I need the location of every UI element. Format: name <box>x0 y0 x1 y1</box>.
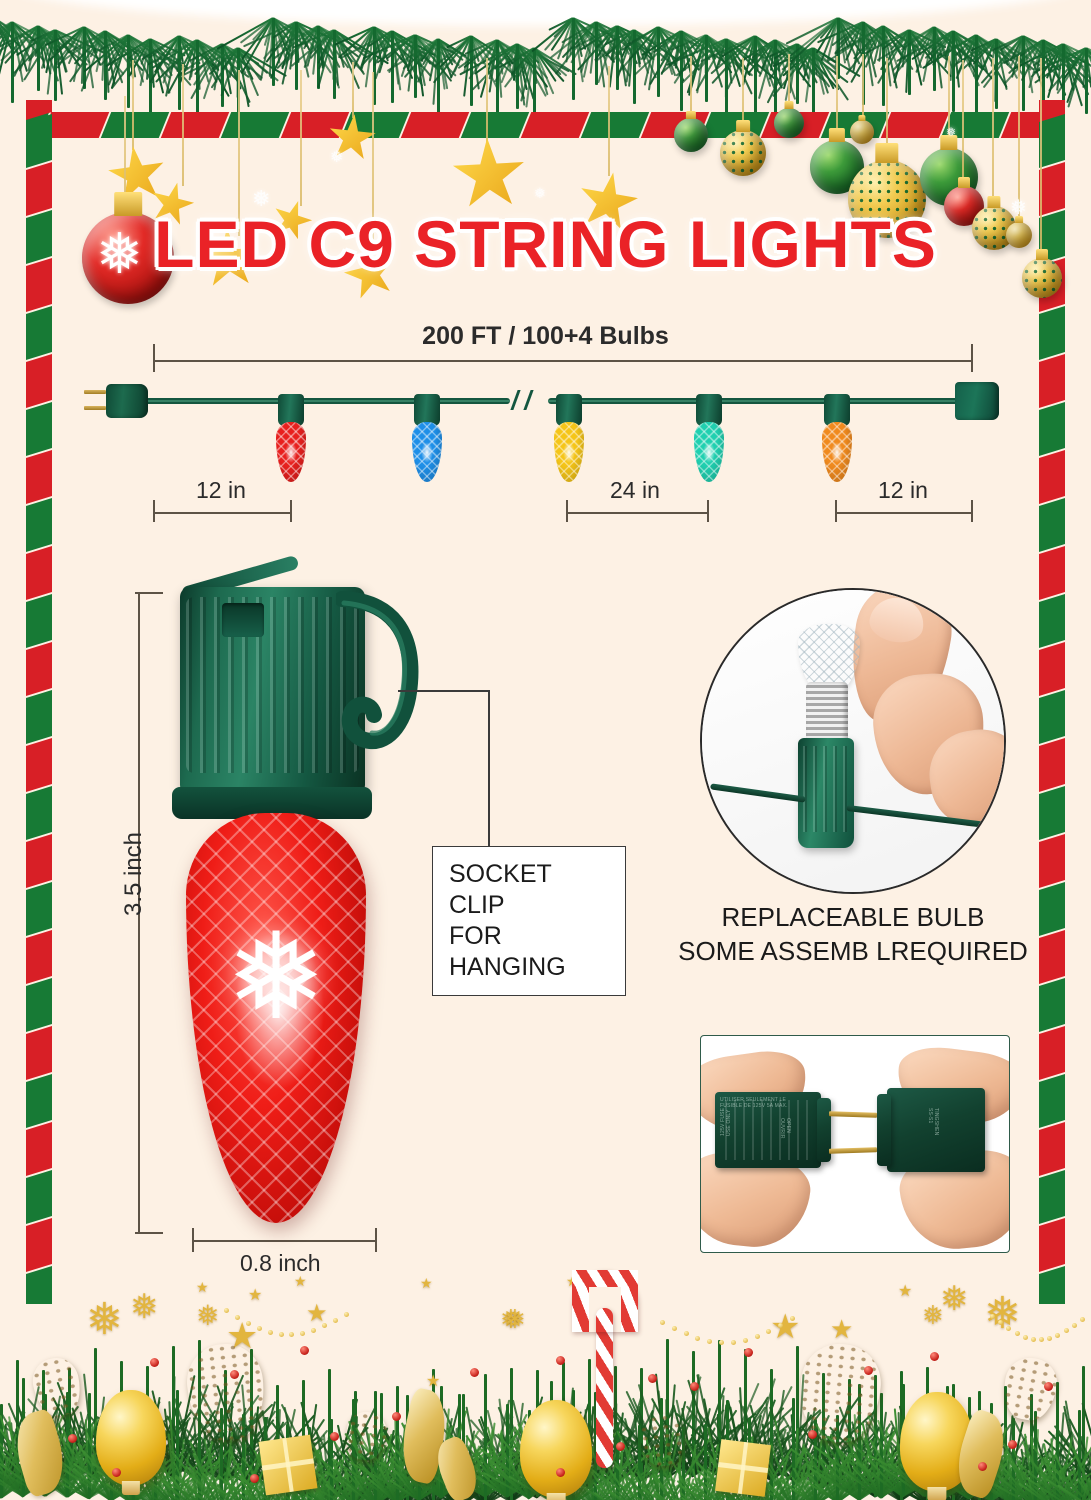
stripe-segment <box>26 689 52 745</box>
string-bulb-yellow <box>554 422 584 482</box>
red-berry <box>556 1356 565 1365</box>
gold-bead <box>311 1328 316 1333</box>
dim-tick-24-a <box>566 500 568 522</box>
callout-leader-horizontal <box>398 690 490 692</box>
gold-gift-box <box>258 1435 317 1496</box>
string-diagram: 200 FT / 100+4 Bulbs 12 in 24 in 12 <box>0 322 1091 532</box>
photo-prong-bottom <box>829 1147 877 1154</box>
socket-clip-callout: SOCKET CLIP FOR HANGING <box>432 846 626 996</box>
bulb-shine <box>285 442 297 462</box>
gold-bead <box>743 1338 748 1343</box>
gold-bauble <box>96 1390 166 1486</box>
ornament-thread <box>962 60 964 186</box>
bulb-height-label: 3.5 inch <box>120 832 148 916</box>
female-connector <box>955 382 999 420</box>
wire-break-slash-2 <box>523 390 533 410</box>
gold-bauble <box>520 1400 592 1498</box>
ornament-bauble <box>720 130 766 176</box>
female-plug-lip <box>877 1094 891 1166</box>
dim-label-24: 24 in <box>610 477 660 504</box>
bottom-garland: ❅❅❅★★★★❅★❅★❅❅❅★★★★★ <box>0 1262 1091 1500</box>
photo-socket-ribs <box>803 746 849 832</box>
male-plug <box>106 384 148 418</box>
stripe-segment <box>459 112 531 138</box>
ornament-cap <box>736 120 750 132</box>
pine-stem <box>952 31 955 112</box>
gold-snowflake: ❅ <box>86 1298 123 1342</box>
pine-stem <box>295 22 298 90</box>
ornament-cap <box>785 101 794 109</box>
ornament-bauble <box>674 118 708 152</box>
dim-tick-12-right-a <box>835 500 837 522</box>
ornament-cap <box>875 143 898 163</box>
candy-cane-hook <box>572 1270 638 1332</box>
callout-leader-vertical <box>488 690 490 846</box>
gold-bead <box>990 1314 995 1319</box>
red-berry <box>690 1382 699 1391</box>
stripe-segment <box>1039 113 1065 169</box>
bulb-shine <box>421 442 433 462</box>
stripe-segment <box>1039 833 1065 889</box>
bulb-width-label: 0.8 inch <box>240 1250 321 1277</box>
gold-bead <box>1055 1333 1060 1338</box>
candy-cane-stick <box>596 1308 613 1468</box>
stripe-segment <box>1039 689 1065 745</box>
ornament-bauble <box>850 120 874 144</box>
dim-label-12-right: 12 in <box>878 477 928 504</box>
ornament-thread <box>690 56 692 118</box>
gold-bead <box>684 1331 689 1336</box>
red-berry <box>300 1346 309 1355</box>
gold-bead <box>1072 1323 1077 1328</box>
pine-stem <box>657 27 660 97</box>
ornament-cap <box>858 115 865 121</box>
stripe-segment <box>1039 545 1065 601</box>
replaceable-bulb-photo <box>700 588 1006 894</box>
photo-socket <box>798 738 854 848</box>
ornament-cap <box>958 177 970 187</box>
plug-micro-text-open: OPEN OUVRIR <box>779 1118 792 1139</box>
ornament-thread <box>182 64 184 186</box>
gold-bead <box>755 1334 760 1339</box>
snow-sparkle: ❅ <box>946 126 956 138</box>
pine-stem <box>754 36 757 118</box>
red-berry <box>68 1434 77 1443</box>
ornament-thread <box>486 58 488 142</box>
bulb-shine <box>563 442 575 462</box>
garland-foliage: ❅❅❅★★★★❅★❅★❅❅❅★★★★★ <box>0 1262 1091 1500</box>
bulb-shine <box>703 442 715 462</box>
stripe-segment <box>519 112 591 138</box>
gold-star-accent: ★ <box>830 1316 853 1342</box>
red-berry <box>150 1358 159 1367</box>
dim-tick-12-left-a <box>153 500 155 522</box>
red-berry <box>470 1368 479 1377</box>
ornament-thread <box>352 62 354 118</box>
gold-bead <box>333 1318 338 1323</box>
stripe-segment <box>1039 977 1065 1033</box>
stripe-segment <box>879 112 951 138</box>
plug-connector-photo: UTILISER SEULEMENT LE FUSIBLE DE 125V 5A… <box>700 1035 1010 1253</box>
gold-bead <box>322 1323 327 1328</box>
gold-bead <box>289 1332 294 1337</box>
gold-bead <box>300 1331 305 1336</box>
replaceable-bulb-caption: REPLACEABLE BULB SOME ASSEMB LREQUIRED <box>640 900 1066 969</box>
gold-bead <box>1080 1317 1085 1322</box>
gold-bead <box>1023 1335 1028 1340</box>
wire-break-slash-1 <box>510 390 520 410</box>
stripe-segment <box>1039 785 1065 841</box>
gold-bead <box>257 1326 262 1331</box>
stripe-segment <box>399 112 471 138</box>
stripe-segment <box>99 112 171 138</box>
ornament-thread <box>788 54 790 108</box>
dim-line-24 <box>566 512 708 514</box>
socket-tab <box>222 603 264 637</box>
gold-snowflake: ❅ <box>504 1306 526 1332</box>
red-berry <box>808 1430 817 1439</box>
gold-star-accent: ★ <box>898 1284 912 1300</box>
string-bulb-red <box>276 422 306 482</box>
gold-star-accent: ★ <box>770 1310 800 1344</box>
stripe-segment <box>579 112 651 138</box>
red-berry <box>864 1366 873 1375</box>
ornament-thread <box>132 60 134 150</box>
gold-bead <box>660 1320 665 1325</box>
plug-prong-top <box>84 390 106 394</box>
ornament-thread <box>862 54 864 120</box>
socket-ribs <box>186 597 359 773</box>
overall-dim-tick-right <box>971 344 973 372</box>
red-berry <box>556 1468 565 1477</box>
stripe-segment <box>159 112 231 138</box>
wire-left-highlight <box>140 400 510 402</box>
gold-star-accent: ★ <box>248 1288 262 1304</box>
stripe-segment <box>1039 593 1065 649</box>
bulb-screw-base <box>806 682 848 744</box>
red-berry <box>250 1474 259 1483</box>
gold-gift-box <box>715 1439 771 1497</box>
snow-sparkle: ❅ <box>534 186 546 200</box>
red-berry <box>978 1462 987 1471</box>
dim-label-12-left: 12 in <box>196 477 246 504</box>
gold-bead <box>279 1332 284 1337</box>
string-bulb-orange <box>822 422 852 482</box>
stripe-segment <box>26 1169 52 1225</box>
ornament-cap <box>829 128 845 142</box>
ornament-cap <box>686 111 696 120</box>
gold-snowflake: ❅ <box>196 1302 219 1330</box>
stripe-segment <box>1039 1169 1065 1225</box>
pine-stem <box>127 35 130 108</box>
dim-tick-12-right-b <box>971 500 973 522</box>
gold-bead <box>1047 1336 1052 1341</box>
red-berry <box>744 1348 753 1357</box>
gold-snowflake: ❅ <box>130 1290 159 1324</box>
pine-stem <box>437 39 440 122</box>
stripe-segment <box>1039 641 1065 697</box>
photo-prong-top <box>829 1111 877 1118</box>
gold-bead <box>1039 1337 1044 1342</box>
stripe-segment <box>26 929 52 985</box>
bulb-snowflake-glint: ❅ <box>226 917 327 1037</box>
ornament-bauble <box>774 108 804 138</box>
stripe-segment <box>26 113 52 169</box>
snow-cap <box>0 0 1091 26</box>
stripe-segment <box>26 593 52 649</box>
stripe-segment <box>219 112 291 138</box>
stripe-segment <box>1039 1121 1065 1177</box>
gold-star-accent: ★ <box>420 1276 433 1290</box>
gold-star <box>450 136 528 214</box>
gold-bead <box>719 1340 724 1345</box>
ornament-thread <box>300 70 302 206</box>
bulb-detail-illustration: ❅ <box>150 565 430 1265</box>
stripe-segment <box>26 1025 52 1081</box>
red-berry <box>330 1432 339 1441</box>
red-berry <box>930 1352 939 1361</box>
dim-line-12-right <box>835 512 973 514</box>
pine-stem <box>11 22 14 103</box>
infographic-page: ❅❅❅❅❅❅ LED C9 STRING LIGHTS 200 FT / 100… <box>0 0 1091 1500</box>
stripe-segment <box>26 545 52 601</box>
stripe-segment <box>26 641 52 697</box>
plug-micro-text-fuse: 125V FUSE USE ONLY <box>720 1108 733 1136</box>
stripe-segment <box>1039 1025 1065 1081</box>
bulb-glass-red: ❅ <box>186 813 366 1223</box>
gold-bead <box>246 1321 251 1326</box>
pine-stem <box>333 30 336 99</box>
overall-dim-line <box>153 360 973 362</box>
gold-bead <box>235 1315 240 1320</box>
gold-bead <box>672 1326 677 1331</box>
gold-star-accent: ★ <box>426 1374 440 1390</box>
bulb-shine <box>831 442 843 462</box>
stripe-segment <box>26 881 52 937</box>
red-berry <box>616 1442 625 1451</box>
red-berry <box>112 1468 121 1477</box>
gold-bead <box>695 1336 700 1341</box>
gold-bead <box>731 1340 736 1345</box>
red-berry <box>1044 1382 1053 1391</box>
gold-bead <box>268 1330 273 1335</box>
stripe-segment <box>26 785 52 841</box>
male-plug-body: UTILISER SEULEMENT LE FUSIBLE DE 125V 5A… <box>715 1092 821 1168</box>
overall-dim-tick-left <box>153 344 155 372</box>
page-title: LED C9 STRING LIGHTS <box>0 206 1091 282</box>
red-berry <box>392 1412 401 1421</box>
stripe-segment <box>1039 1073 1065 1129</box>
stripe-segment <box>26 1121 52 1177</box>
plug-micro-text-brand: TINGSHEN SS-S1 <box>927 1108 940 1135</box>
wire-right-highlight <box>548 400 958 402</box>
red-berry <box>1008 1440 1017 1449</box>
snow-sparkle: ❅ <box>330 150 343 166</box>
string-bulb-blue <box>412 422 442 482</box>
dim-tick-24-b <box>707 500 709 522</box>
stripe-segment <box>1039 737 1065 793</box>
stripe-segment <box>26 977 52 1033</box>
gold-snowflake: ❅ <box>940 1282 969 1316</box>
ornament-thread <box>608 66 610 176</box>
stripe-segment <box>26 833 52 889</box>
string-bulb-teal <box>694 422 724 482</box>
dim-line-12-left <box>153 512 291 514</box>
gold-bead <box>707 1339 712 1344</box>
stripe-segment <box>26 1073 52 1129</box>
gold-bead <box>1031 1337 1036 1342</box>
female-plug-body: TINGSHEN SS-S1 <box>887 1088 985 1172</box>
gold-bead <box>1064 1328 1069 1333</box>
dim-tick-12-left-b <box>290 500 292 522</box>
ornament-thread <box>992 58 994 206</box>
gold-star-accent: ★ <box>196 1280 209 1294</box>
plug-prong-bottom <box>84 406 106 410</box>
red-berry <box>230 1370 239 1379</box>
string-length-label: 200 FT / 100+4 Bulbs <box>0 322 1091 351</box>
gold-bead <box>224 1308 229 1313</box>
red-berry <box>648 1374 657 1383</box>
pine-stem <box>1085 48 1088 114</box>
stripe-segment <box>26 737 52 793</box>
gold-bead <box>344 1312 349 1317</box>
